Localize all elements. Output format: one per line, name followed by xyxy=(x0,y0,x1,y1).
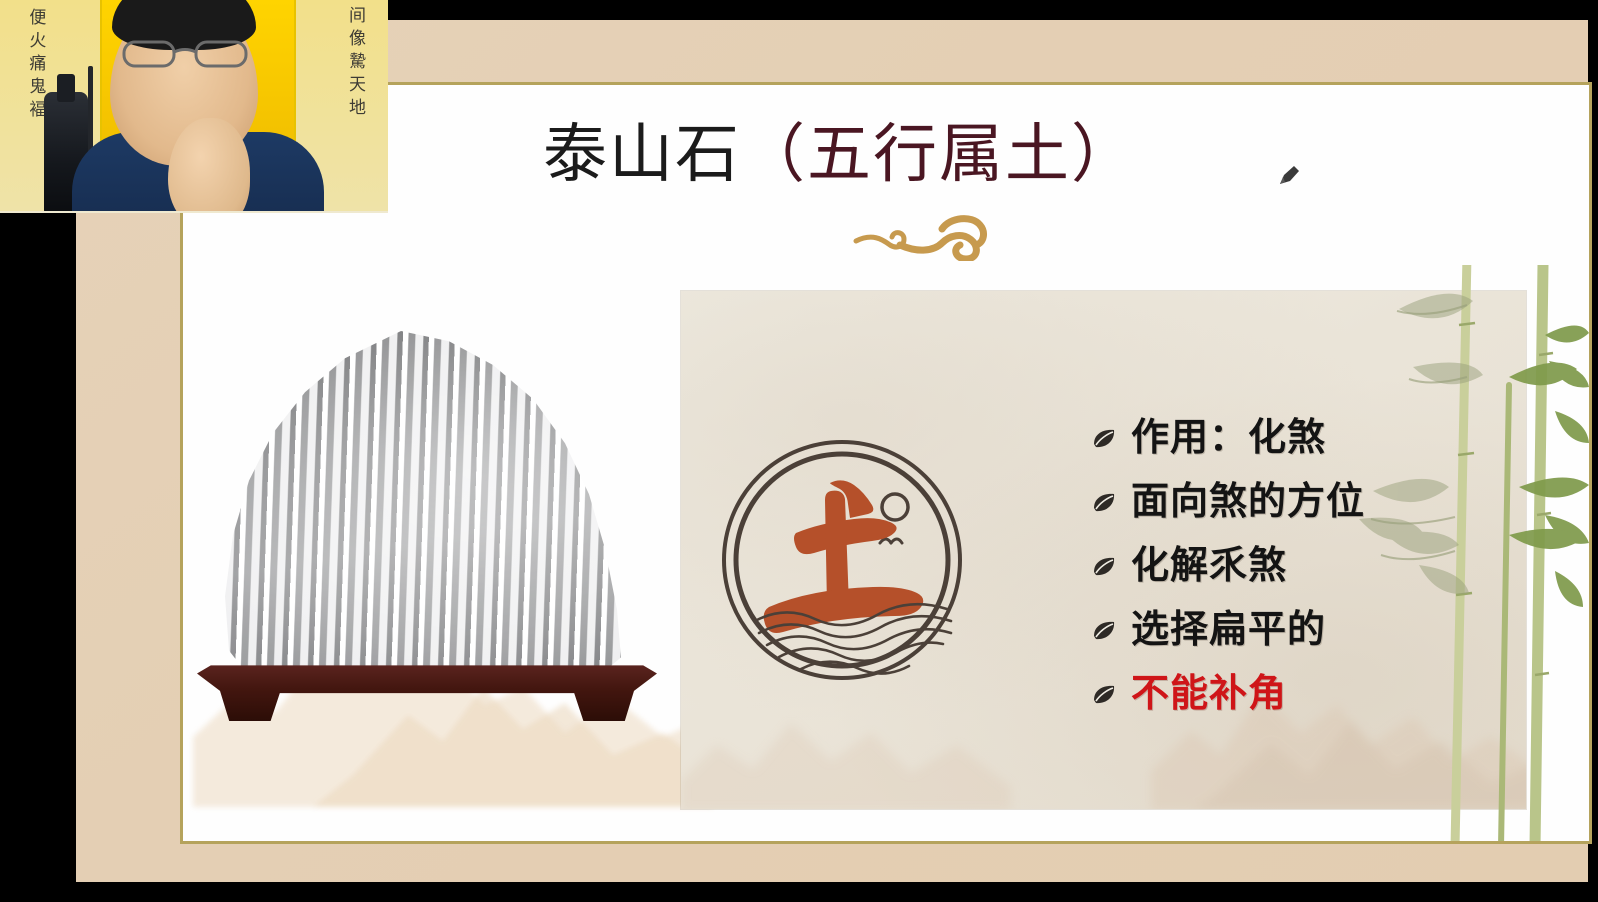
earth-element-emblem xyxy=(717,435,967,685)
presenter-webcam-overlay[interactable]: 便火痛鬼褔 敕令镇宅 间像騺天地 xyxy=(0,0,388,213)
glasses-icon xyxy=(122,38,250,68)
presentation-slide: 泰山石（五行属土） xyxy=(183,85,1589,841)
pen-cursor-icon[interactable] xyxy=(1276,163,1302,189)
bottle-neck xyxy=(57,74,75,102)
taishan-stone-photo xyxy=(201,327,681,747)
title-part-paren: （五行属土） xyxy=(741,119,1137,190)
list-item-label: 选择扁平的 xyxy=(1131,611,1326,651)
title-part-main: 泰山石 xyxy=(543,119,741,190)
list-item-label: 面向煞的方位 xyxy=(1131,483,1365,523)
leaf-bullet-icon xyxy=(1091,554,1117,580)
bird-icons xyxy=(880,539,902,543)
leaf-bullet-icon xyxy=(1091,490,1117,516)
stone-wooden-stand xyxy=(197,663,657,721)
leaf-bullet-icon xyxy=(1091,682,1117,708)
list-item-label-highlight: 不能补角 xyxy=(1131,675,1287,715)
stone-shading xyxy=(221,331,621,671)
list-item-label: 作用：化煞 xyxy=(1131,419,1326,459)
leaf-bullet-icon xyxy=(1091,426,1117,452)
leaf-bullet-icon xyxy=(1091,618,1117,644)
list-item-label: 化解乑煞 xyxy=(1131,547,1287,587)
screen-background: 泰山石（五行属土） xyxy=(0,0,1598,902)
auspicious-cloud-icon xyxy=(838,205,988,261)
page-title: 泰山石（五行属土） xyxy=(543,123,1243,187)
sun-circle-icon xyxy=(882,494,908,520)
slide-gold-keyline: 泰山石（五行属土） xyxy=(180,82,1592,844)
talisman-banner-right-text: 间像騺天地 xyxy=(342,6,368,121)
bamboo-decoration xyxy=(1359,265,1589,841)
earth-character-glyph xyxy=(764,480,924,633)
